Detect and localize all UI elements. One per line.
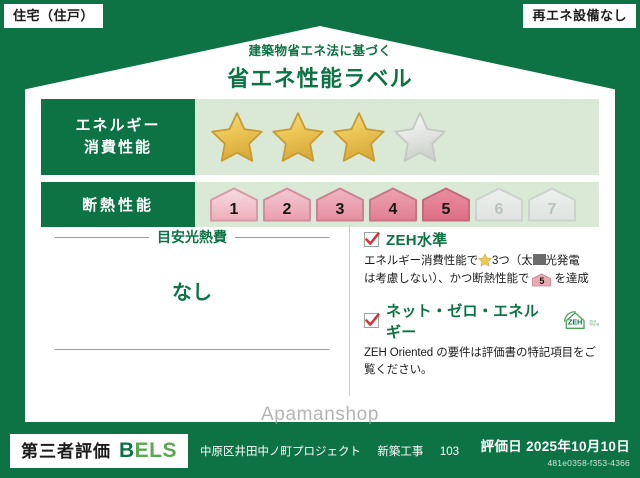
grade-chips: 1234567: [209, 186, 577, 223]
net-zero-title: ネット・ゼロ・エネルギー: [386, 300, 554, 342]
row-energy-performance: エネルギー 消費性能: [41, 99, 599, 175]
project-name: 中原区井田中ノ町プロジェクト: [200, 446, 361, 458]
label-frame: 住宅（住戸） 再エネ設備なし 建築物省エネ法に基づく 省エネ性能ラベル エネルギ…: [0, 0, 640, 478]
inline-star-icon: [478, 253, 492, 267]
zeh-standard-block: ZEH水準 エネルギー消費性能で 3つ（太光発電 は考慮しない）、かつ断熱性能で…: [364, 229, 599, 289]
performance-rows: エネルギー 消費性能 断熱性能 1234567: [41, 99, 599, 234]
net-zero-heading: ネット・ゼロ・エネルギー ZEH ZEH Oriented: [364, 300, 599, 342]
inline-grade-chip: 5: [532, 273, 551, 287]
bels-logo-els: ELS: [135, 439, 177, 462]
svg-text:Oriented: Oriented: [589, 322, 599, 326]
bottom-bar: 第三者評価 BELS 中原区井田中ノ町プロジェクト 新築工事 103 評価日 2…: [0, 424, 640, 478]
zeh-standard-heading: ZEH水準: [364, 229, 599, 250]
grade-chip-inactive: 7: [527, 186, 577, 223]
row-label-energy-performance: エネルギー 消費性能: [41, 99, 195, 175]
checkbox-checked-icon: [364, 232, 379, 247]
utility-cost-column: 目安光熱費 なし: [41, 221, 343, 414]
star-rating: [209, 110, 448, 164]
project-unit: 103: [440, 446, 459, 458]
label-panel: 建築物省エネ法に基づく 省エネ性能ラベル エネルギー 消費性能 断熱性能 123…: [25, 26, 615, 422]
net-zero-energy-block: ネット・ゼロ・エネルギー ZEH ZEH Oriented ZEH Orient…: [364, 300, 599, 381]
checkbox-checked-icon: [364, 313, 379, 328]
energy-label-line2: 消費性能: [84, 137, 152, 159]
project-type: 新築工事: [377, 446, 423, 458]
column-divider: [349, 225, 350, 396]
net-zero-description: ZEH Oriented の要件は評価書の特記項目をご覧ください。: [364, 345, 599, 381]
utility-cost-bottom-rule: [55, 349, 329, 350]
grade-chip-inactive: 6: [474, 186, 524, 223]
corner-tag-renewable-equipment: 再エネ設備なし: [523, 4, 636, 28]
zeh-desc-part-c: は考慮しない）、かつ断熱性能で: [364, 273, 529, 285]
star-filled-icon: [209, 110, 265, 164]
page-title: 省エネ性能ラベル: [25, 61, 615, 93]
zeh-desc-star-count: 3つ（太: [492, 255, 533, 267]
zeh-desc-part-d: を達成: [554, 273, 588, 285]
zeh-column: ZEH水準 エネルギー消費性能で 3つ（太光発電 は考慮しない）、かつ断熱性能で…: [360, 221, 599, 414]
evaluation-date-value: 2025年10月10日: [526, 439, 630, 454]
svg-text:ZEH: ZEH: [567, 318, 581, 326]
star-filled-icon: [331, 110, 387, 164]
evaluation-date-label: 評価日: [481, 439, 522, 454]
grade-chip-value: 4: [389, 201, 398, 219]
zeh-standard-description: エネルギー消費性能で 3つ（太光発電 は考慮しない）、かつ断熱性能で 5 を達成: [364, 253, 599, 289]
zeh-desc-part-b: 光発電: [546, 255, 580, 267]
heading-rule-left: [55, 237, 149, 238]
redacted-character: [533, 254, 546, 265]
evaluation-date-block: 評価日 2025年10月10日 481e0358-f353-4366: [481, 435, 630, 468]
zeh-house-logo-icon: ZEH ZEH Oriented: [563, 309, 600, 333]
corner-tag-building-type: 住宅（住戸）: [4, 4, 103, 28]
title-subtitle: 建築物省エネ法に基づく: [25, 40, 615, 59]
grade-chip-active: 3: [315, 186, 365, 223]
grade-chip-value: 6: [495, 201, 504, 219]
utility-cost-value: なし: [41, 276, 343, 305]
grade-chip-active: 2: [262, 186, 312, 223]
zeh-standard-title: ZEH水準: [386, 229, 448, 250]
heading-rule-right: [235, 237, 329, 238]
grade-chip-active: 1: [209, 186, 259, 223]
grade-chip-active: 4: [368, 186, 418, 223]
star-empty-icon: [392, 110, 448, 164]
grade-chip-value: 1: [230, 201, 239, 219]
evaluation-id: 481e0358-f353-4366: [481, 458, 630, 468]
grade-chip-value: 5: [442, 201, 451, 219]
energy-rating-value: [195, 99, 599, 175]
zeh-desc-part-a: エネルギー消費性能で: [364, 255, 478, 267]
project-info: 中原区井田中ノ町プロジェクト 新築工事 103: [200, 443, 459, 459]
grade-chip-value: 7: [548, 201, 557, 219]
grade-chip-value: 2: [283, 201, 292, 219]
grade-chip-value: 3: [336, 201, 345, 219]
utility-cost-heading: 目安光熱費: [41, 227, 343, 247]
utility-cost-label: 目安光熱費: [157, 227, 227, 247]
title-block: 建築物省エネ法に基づく 省エネ性能ラベル: [25, 40, 615, 93]
bels-jp-label: 第三者評価: [21, 443, 111, 460]
star-filled-icon: [270, 110, 326, 164]
lower-section: 目安光熱費 なし ZEH水準 エネルギー消費性能で: [41, 221, 599, 414]
bels-logo-b: B: [119, 439, 135, 462]
inline-grade-chip-value: 5: [539, 276, 544, 286]
bels-certification-badge: 第三者評価 BELS: [10, 434, 188, 468]
energy-label-line1: エネルギー: [75, 115, 160, 137]
grade-chip-active: 5: [421, 186, 471, 223]
